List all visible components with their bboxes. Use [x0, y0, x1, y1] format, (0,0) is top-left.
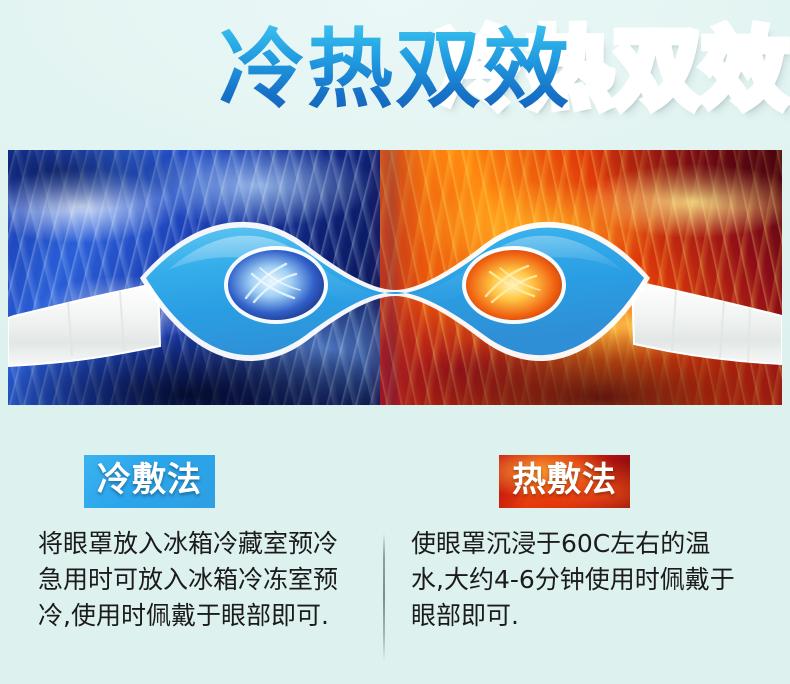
left-strap	[8, 283, 160, 366]
right-strap	[632, 281, 782, 364]
product-detail-page: 冷热双效 冷热双效	[0, 0, 790, 684]
hot-method-column: 热敷法 使眼罩沉浸于60C左右的温水,大约4-6分钟使用时佩戴于眼部即可.	[405, 455, 760, 634]
cold-method-column: 冷敷法 将眼罩放入冰箱冷藏室预冷 急用时可放入冰箱冷冻室预冷,使用时佩戴于眼部即…	[30, 455, 385, 634]
left-eye-hole	[224, 246, 328, 324]
page-title: 冷热双效 冷热双效	[0, 18, 790, 130]
right-eye-hole	[462, 246, 566, 324]
headline-text: 冷热双效	[219, 18, 571, 122]
hot-method-badge: 热敷法	[499, 455, 630, 508]
headline-stack: 冷热双效 冷热双效	[219, 18, 571, 122]
product-banner	[8, 150, 782, 405]
eye-mask-illustration	[8, 150, 782, 405]
cold-method-badge: 冷敷法	[84, 455, 215, 508]
cold-method-text: 将眼罩放入冰箱冷藏室预冷 急用时可放入冰箱冷冻室预冷,使用时佩戴于眼部即可.	[38, 526, 368, 634]
hot-method-text: 使眼罩沉浸于60C左右的温水,大约4-6分钟使用时佩戴于眼部即可.	[411, 526, 741, 634]
methods-section: 冷敷法 将眼罩放入冰箱冷藏室预冷 急用时可放入冰箱冷冻室预冷,使用时佩戴于眼部即…	[0, 455, 790, 670]
column-divider	[383, 533, 385, 661]
